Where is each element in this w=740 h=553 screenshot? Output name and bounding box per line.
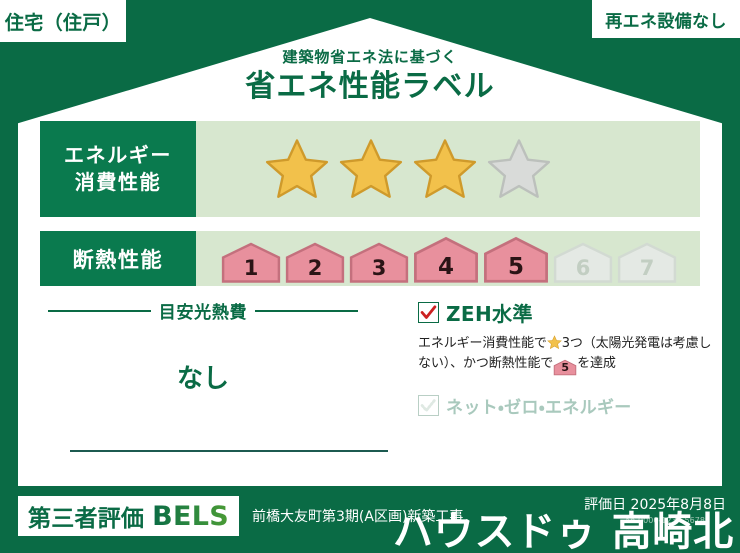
insulation-grade-label: 5 — [508, 254, 524, 280]
bels-certification-badge: 第三者評価 BELS — [18, 496, 239, 536]
building-type-badge: 住宅（住戸） — [0, 0, 126, 42]
zeh-desc-stars: 3つ（太陽光発電 — [562, 336, 660, 351]
label-panel: 建築物省エネ法に基づく 省エネ性能ラベル エネルギー 消費性能 断熱性能 123… — [18, 18, 722, 486]
project-name: 前橋大友町第3期(A区画)新築工事 — [252, 506, 463, 526]
insulation-grade-7: 7 — [616, 241, 678, 283]
utility-cost-heading: 目安光熱費 — [48, 298, 358, 323]
star-empty-icon — [486, 137, 552, 201]
inline-grade-value: 5 — [561, 361, 569, 374]
insulation-label-text: 断熱性能 — [73, 244, 164, 274]
section-divider — [70, 450, 388, 452]
insulation-grade-5: 5 — [482, 235, 550, 283]
energy-label-card: 住宅（住戸） 再エネ設備なし 建築物省エネ法に基づく 省エネ性能ラベル エネルギ… — [0, 0, 740, 553]
insulation-grade-6: 6 — [552, 241, 614, 283]
inline-star-icon — [547, 335, 562, 350]
zeh-checkbox[interactable] — [418, 302, 439, 323]
zeh-section: ZEH水準 エネルギー消費性能で 3つ（太陽光発電は考慮しない）、かつ断熱性能で… — [418, 298, 718, 418]
net-zero-energy-checkbox[interactable] — [418, 395, 439, 416]
insulation-grade-scale: 1234567 — [196, 235, 678, 283]
energy-performance-label: エネルギー 消費性能 — [40, 121, 196, 217]
insulation-grade-4: 4 — [412, 235, 480, 283]
insulation-performance-body: 1234567 — [196, 231, 700, 286]
utility-cost-value: なし — [48, 358, 358, 395]
energy-label-line-2: 消費性能 — [75, 169, 161, 196]
zeh-title-text: ZEH水準 — [446, 298, 533, 327]
insulation-grade-label: 7 — [640, 256, 655, 280]
insulation-grade-label: 3 — [372, 256, 387, 280]
insulation-grade-2: 2 — [284, 241, 346, 283]
insulation-grade-label: 4 — [438, 254, 454, 280]
energy-performance-row: エネルギー 消費性能 — [40, 121, 700, 217]
zeh-description: エネルギー消費性能で 3つ（太陽光発電は考慮しない）、かつ断熱性能で 5 を達成 — [418, 334, 718, 376]
zeh-desc-part-3: を達成 — [577, 356, 616, 371]
bels-jp-text: 第三者評価 — [28, 499, 144, 533]
insulation-performance-row: 断熱性能 1234567 — [40, 231, 700, 286]
check-icon — [420, 304, 437, 321]
page-title: 省エネ性能ラベル — [18, 68, 722, 106]
title-block: 建築物省エネ法に基づく 省エネ性能ラベル — [18, 48, 722, 106]
footer-bar: 第三者評価 BELS 前橋大友町第3期(A区画)新築工事 評価日 2025年8月… — [0, 486, 740, 553]
star-filled-icon — [264, 137, 330, 201]
rule-right — [255, 310, 358, 312]
rule-left — [48, 310, 151, 312]
zeh-desc-part-1: エネルギー消費性能で — [418, 336, 547, 351]
insulation-grade-3: 3 — [348, 241, 410, 283]
insulation-performance-label: 断熱性能 — [40, 231, 196, 286]
energy-performance-body — [196, 121, 700, 217]
check-icon-faded — [420, 397, 437, 414]
insulation-grade-label: 2 — [308, 256, 323, 280]
inline-grade-badge: 5 — [553, 359, 577, 376]
net-zero-energy-label: ネット・ゼロ・エネルギー — [446, 393, 632, 418]
star-filled-icon — [338, 137, 404, 201]
net-zero-energy-row: ネット・ゼロ・エネルギー — [418, 393, 718, 418]
energy-label-line-1: エネルギー — [64, 142, 172, 169]
lower-section: 目安光熱費 なし ZEH水準 エネルギー消費性能で 3つ（ — [40, 298, 720, 478]
insulation-grade-label: 6 — [576, 256, 591, 280]
evaluation-date: 評価日 2025年8月8日 — [584, 494, 726, 514]
license-number: ab-0000-1234-56789 — [625, 516, 710, 525]
bels-logo-text: BELS — [152, 501, 229, 532]
utility-cost-heading-text: 目安光熱費 — [159, 298, 247, 323]
insulation-grade-1: 1 — [220, 241, 282, 283]
star-rating — [196, 137, 552, 201]
renewable-energy-badge: 再エネ設備なし — [592, 0, 740, 38]
title-subtitle: 建築物省エネ法に基づく — [18, 48, 722, 66]
star-filled-icon — [412, 137, 478, 201]
zeh-title-row: ZEH水準 — [418, 298, 718, 327]
insulation-grade-label: 1 — [244, 256, 259, 280]
